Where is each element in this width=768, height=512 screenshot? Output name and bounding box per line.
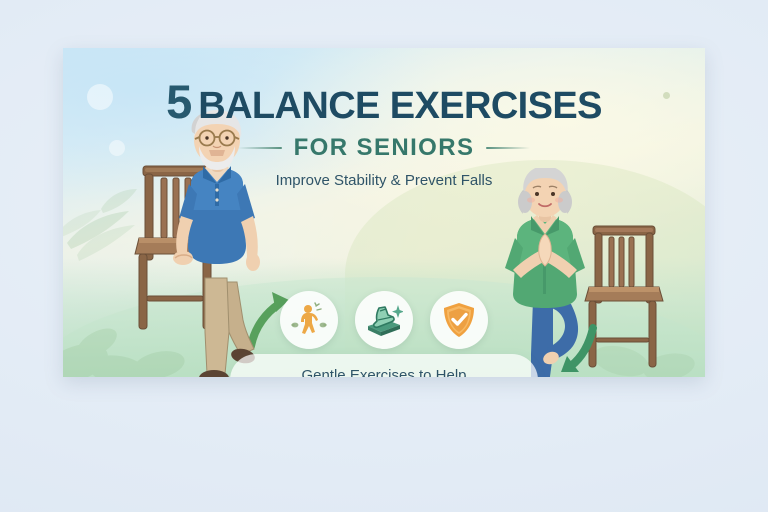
title-line: 5 BALANCE EXERCISES (63, 78, 705, 125)
subtitle: FOR SENIORS (294, 134, 475, 162)
feature-badges (63, 291, 705, 349)
tagline: Improve Stability & Prevent Falls (63, 172, 705, 189)
infographic-card: 5 BALANCE EXERCISES FOR SENIORS Improve … (63, 48, 705, 377)
badge-shield[interactable] (430, 291, 488, 349)
badge-balance-pad[interactable] (355, 291, 413, 349)
page-title: BALANCE EXERCISES (198, 87, 602, 125)
callout-line-1: Gentle Exercises to Help (230, 366, 538, 377)
foot-on-balance-pad-icon (365, 302, 403, 338)
title-number: 5 (166, 78, 191, 125)
walking-person-icon (291, 302, 327, 338)
shield-check-icon (442, 302, 476, 338)
subtitle-rule-right (486, 147, 530, 149)
badge-walking[interactable] (280, 291, 338, 349)
headline-block: 5 BALANCE EXERCISES FOR SENIORS Improve … (63, 78, 705, 189)
callout-pill: Gentle Exercises to Help Maintain Balanc… (230, 354, 538, 377)
subtitle-rule-left (238, 147, 282, 149)
subtitle-row: FOR SENIORS (63, 134, 705, 162)
